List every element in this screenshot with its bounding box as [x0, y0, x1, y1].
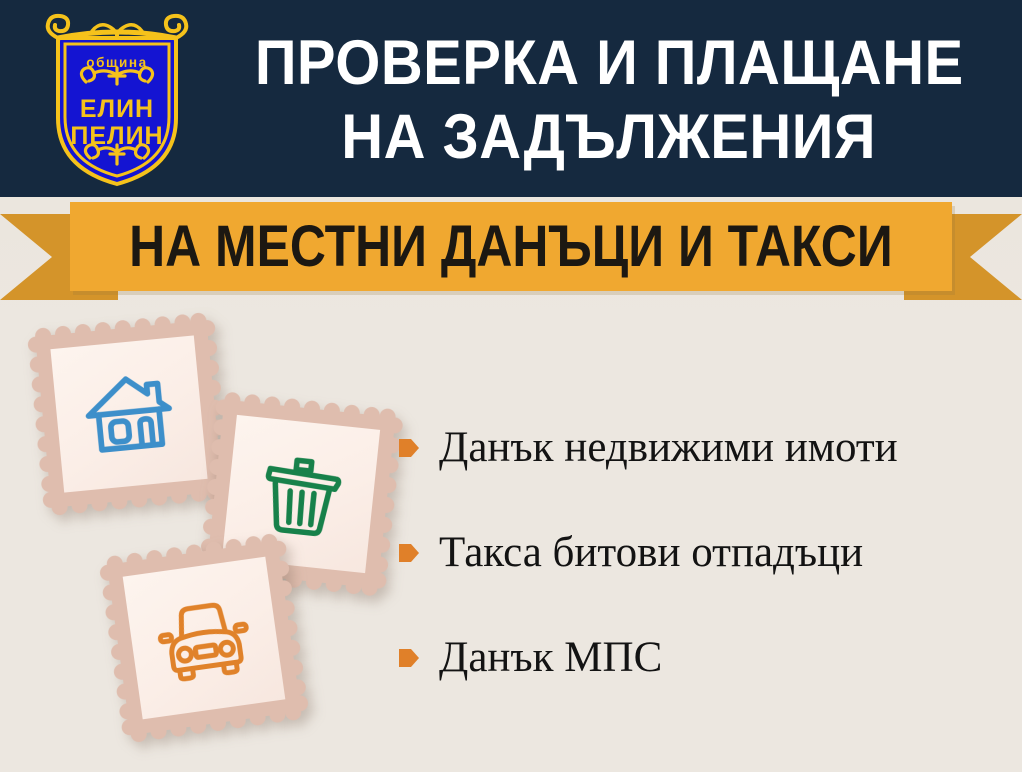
ribbon-band: НА МЕСТНИ ДАНЪЦИ И ТАКСИ: [70, 202, 952, 291]
bullet-arrow-icon: [398, 645, 420, 671]
list-item-label: Такса битови отпадъци: [439, 529, 863, 577]
page-title: ПРОВЕРКА И ПЛАЩАНЕ НА ЗАДЪЛЖЕНИЯ: [196, 14, 1022, 186]
list-item-label: Данък МПС: [439, 634, 662, 682]
ribbon-label: НА МЕСТНИ ДАНЪЦИ И ТАКСИ: [129, 217, 893, 277]
subtitle-ribbon: НА МЕСТНИ ДАНЪЦИ И ТАКСИ: [0, 196, 1022, 304]
stamp-vehicle: [96, 530, 313, 747]
bullet-arrow-icon: [398, 435, 420, 461]
page-title-line-1: ПРОВЕРКА И ПЛАЩАНЕ: [255, 27, 964, 99]
logo-text-elin: ЕЛИН: [80, 95, 154, 123]
stamp-inner-face: [50, 335, 207, 492]
municipality-logo: община ЕЛИН ПЕЛИН: [38, 8, 196, 190]
bullet-arrow-icon: [398, 540, 420, 566]
page-title-line-2: НА ЗАДЪЛЖЕНИЯ: [342, 101, 877, 173]
list-item[interactable]: Данък недвижими имоти: [398, 424, 1012, 472]
list-item[interactable]: Данък МПС: [398, 634, 1012, 682]
stamp-real-estate: [24, 309, 234, 519]
trash-can-icon: [250, 443, 351, 544]
list-item-label: Данък недвижими имоти: [439, 424, 898, 472]
list-item[interactable]: Такса битови отпадъци: [398, 529, 1012, 577]
house-icon: [79, 364, 179, 464]
poster-canvas: община ЕЛИН ПЕЛИН: [0, 0, 1022, 772]
header-banner: община ЕЛИН ПЕЛИН: [0, 0, 1022, 197]
service-list: Данък недвижими имоти Такса битови отпад…: [398, 424, 1012, 682]
car-icon: [152, 586, 256, 690]
stamp-inner-face: [123, 557, 286, 720]
